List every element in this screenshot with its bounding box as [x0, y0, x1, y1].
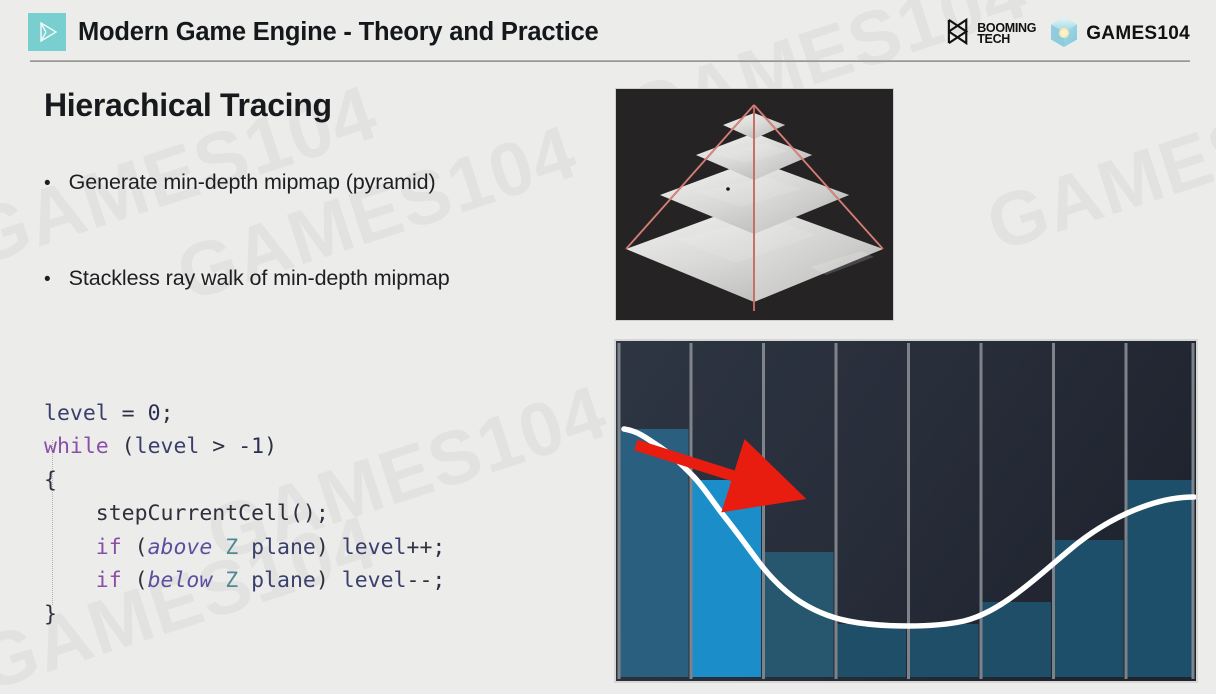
- code-token: [212, 535, 225, 560]
- code-token: if: [96, 568, 122, 593]
- bullet-item-0: • Generate min-depth mipmap (pyramid): [44, 170, 436, 195]
- code-token: ): [264, 434, 277, 459]
- code-token: ++;: [407, 535, 446, 560]
- min-depth-mipmap-pyramid-figure: [616, 89, 893, 320]
- code-token: [212, 568, 225, 593]
- code-line-1: while (level > -1): [44, 430, 445, 464]
- code-token: --;: [407, 568, 446, 593]
- booming-logo-line2: TECH: [977, 34, 1036, 46]
- slide-header: Modern Game Engine - Theory and Practice…: [0, 0, 1216, 62]
- watermark: GAMES104: [977, 58, 1216, 269]
- code-line-0: level = 0;: [44, 397, 445, 431]
- code-line-5: if (below Z plane) level--;: [44, 564, 445, 598]
- code-token: Z: [225, 568, 238, 593]
- code-snippet: level = 0; while (level > -1) { stepCurr…: [44, 397, 445, 632]
- code-token: if: [96, 535, 122, 560]
- page-title: Modern Game Engine - Theory and Practice: [78, 18, 599, 47]
- code-token: level: [44, 401, 109, 426]
- code-line-3: stepCurrentCell();: [44, 497, 445, 531]
- code-token: level: [135, 434, 200, 459]
- slide-title: Hierachical Tracing: [44, 87, 332, 124]
- code-token: above: [148, 535, 213, 560]
- code-token: =: [109, 401, 148, 426]
- games104-logo: GAMES104: [1049, 16, 1190, 53]
- booming-tech-logo: BOOMING TECH: [945, 17, 1036, 51]
- bullet-marker-icon: •: [44, 174, 51, 193]
- code-token: plane: [238, 568, 316, 593]
- bullet-text: Stackless ray walk of min-depth mipmap: [69, 266, 450, 291]
- bullet-text: Generate min-depth mipmap (pyramid): [69, 170, 436, 195]
- games104-cube-icon: [1049, 16, 1079, 53]
- bullet-item-1: • Stackless ray walk of min-depth mipmap: [44, 266, 450, 291]
- code-token: ();: [290, 501, 329, 526]
- code-token: (: [122, 535, 148, 560]
- code-token: (: [109, 434, 135, 459]
- code-token: {: [44, 468, 57, 493]
- code-token: Z: [225, 535, 238, 560]
- code-line-6: }: [44, 598, 445, 632]
- code-token: (: [122, 568, 148, 593]
- code-token: below: [148, 568, 213, 593]
- code-token: plane: [238, 535, 316, 560]
- code-token: >: [199, 434, 238, 459]
- code-token: stepCurrentCell: [96, 501, 290, 526]
- code-token: }: [44, 602, 57, 627]
- header-divider: [30, 60, 1190, 62]
- code-token: ): [316, 568, 342, 593]
- booming-b-icon: [945, 17, 974, 51]
- logo-group: BOOMING TECH: [945, 17, 1190, 51]
- code-token: ;: [161, 401, 174, 426]
- code-token: 0: [148, 401, 161, 426]
- code-token: [44, 501, 96, 526]
- stackless-ray-walk-figure: [616, 341, 1196, 681]
- code-token: ): [316, 535, 342, 560]
- code-token: level: [342, 535, 407, 560]
- code-token: [44, 568, 96, 593]
- slide-canvas: GAMES104 GAMES104 GAMES104 GAMES104 GAME…: [0, 0, 1216, 694]
- code-token: -1: [238, 434, 264, 459]
- code-token: while: [44, 434, 109, 459]
- bullet-marker-icon: •: [44, 270, 51, 289]
- games104-label: GAMES104: [1086, 23, 1190, 45]
- code-token: [44, 535, 96, 560]
- code-line-4: if (above Z plane) level++;: [44, 531, 445, 565]
- play-triangle-icon: [28, 13, 66, 51]
- code-line-2: {: [44, 464, 445, 498]
- code-token: level: [342, 568, 407, 593]
